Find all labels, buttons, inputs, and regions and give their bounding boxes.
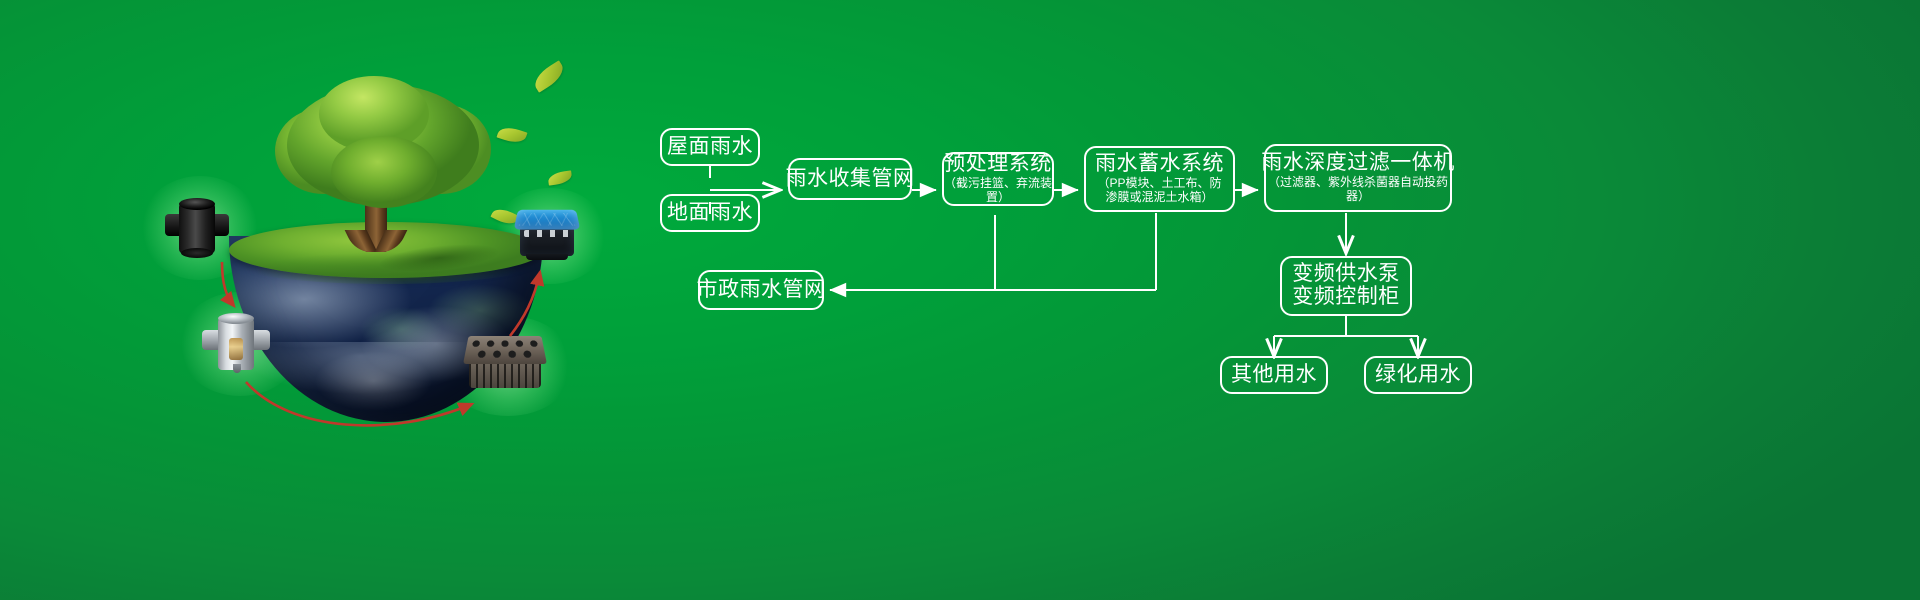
node-pretreatment-system[interactable]: 预处理系统 （截污挂篮、弃流装置） [942, 152, 1054, 206]
node-label: 雨水收集管网 [786, 168, 915, 191]
tree [273, 76, 493, 258]
node-sublabel: （过滤器、紫外线杀菌器自动投药器） [1266, 176, 1450, 204]
rainwater-process-flowchart: 屋面雨水 地面雨水 雨水收集管网 预处理系统 （截污挂篮、弃流装置） 雨水蓄水系… [640, 0, 1920, 600]
node-sublabel: （截污挂篮、弃流装置） [944, 177, 1052, 205]
product-black-pipe-fitting [165, 198, 229, 258]
banner-root: 屋面雨水 地面雨水 雨水收集管网 预处理系统 （截污挂篮、弃流装置） 雨水蓄水系… [0, 0, 1920, 600]
leaf-icon [530, 60, 568, 92]
leaf-icon [547, 170, 572, 185]
node-label: 变频供水泵 [1292, 263, 1400, 286]
node-ground-rainwater[interactable]: 地面雨水 [660, 194, 760, 232]
node-label: 绿化用水 [1375, 364, 1461, 387]
tree-canopy-bottom [331, 136, 437, 208]
node-label: 其他用水 [1231, 364, 1317, 387]
node-rainwater-collection-network[interactable]: 雨水收集管网 [788, 158, 912, 200]
node-roof-rainwater[interactable]: 屋面雨水 [660, 128, 760, 166]
node-label: 预处理系统 [944, 153, 1052, 176]
node-other-water-use[interactable]: 其他用水 [1220, 356, 1328, 394]
node-rainwater-storage-system[interactable]: 雨水蓄水系统 （PP模块、土工布、防 渗膜或混泥土水箱） [1084, 146, 1235, 212]
node-vfd-pump-control-cabinet[interactable]: 变频供水泵 变频控制柜 [1280, 256, 1412, 316]
node-deep-filtration-unit[interactable]: 雨水深度过滤一体机 （过滤器、紫外线杀菌器自动投药器） [1264, 144, 1452, 212]
node-label: 屋面雨水 [667, 136, 753, 159]
node-label-2: 变频控制柜 [1292, 286, 1400, 309]
product-stainless-steel-filter [202, 312, 270, 374]
node-label: 雨水深度过滤一体机 [1261, 152, 1455, 175]
node-greening-water-use[interactable]: 绿化用水 [1364, 356, 1472, 394]
product-honeycomb-module [466, 334, 544, 390]
node-label: 雨水蓄水系统 [1095, 153, 1224, 176]
product-blue-pp-module-tank [516, 208, 578, 260]
node-label: 市政雨水管网 [697, 279, 826, 302]
node-label: 地面雨水 [667, 202, 753, 225]
hero-composite-image [0, 0, 640, 600]
leaf-icon [497, 124, 528, 146]
node-municipal-stormwater-network[interactable]: 市政雨水管网 [698, 270, 824, 310]
node-sublabel-2: 渗膜或混泥土水箱） [1105, 191, 1213, 205]
